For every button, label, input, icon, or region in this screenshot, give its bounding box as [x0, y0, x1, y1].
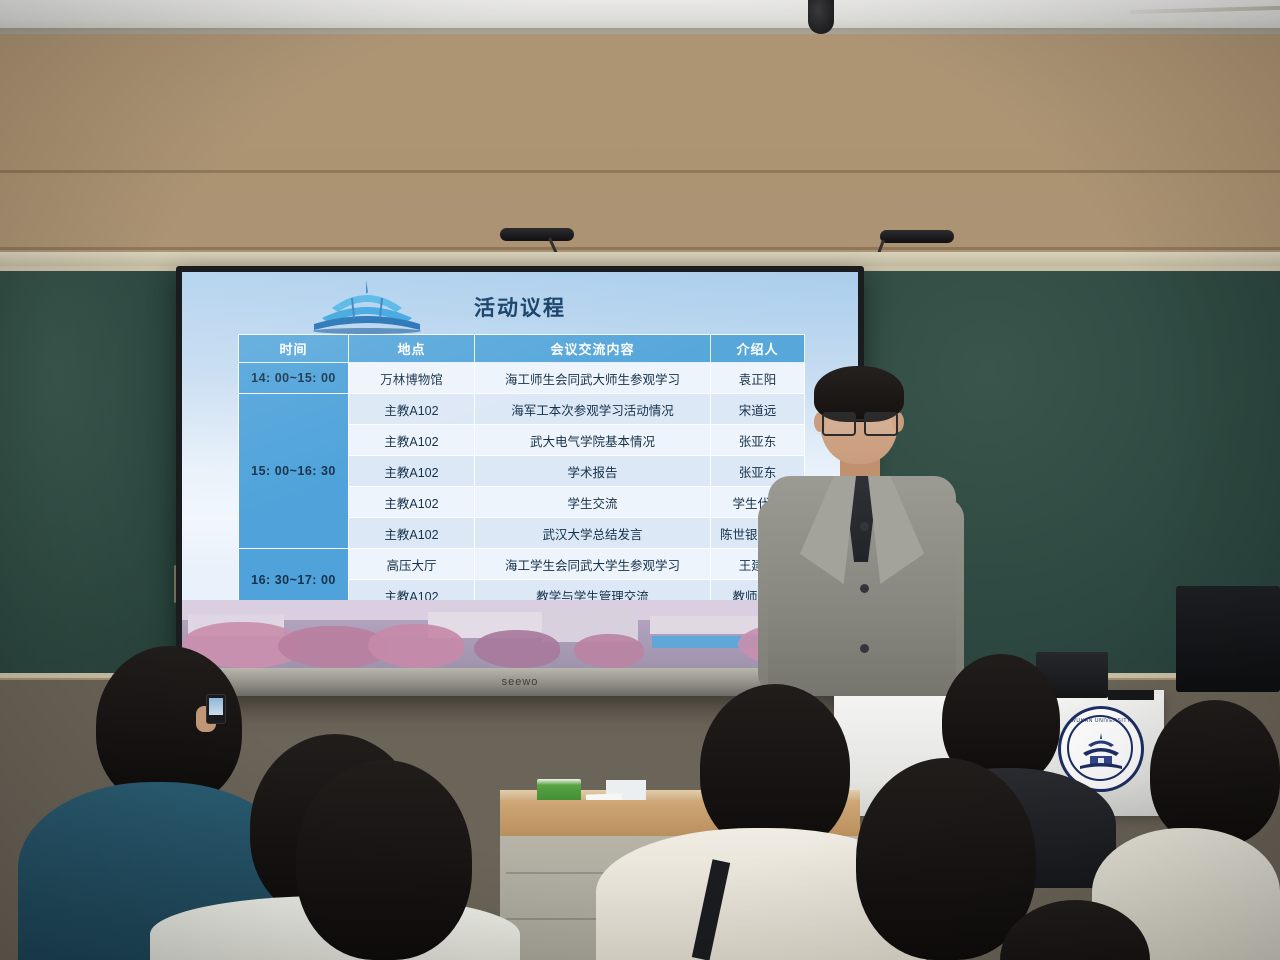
blackboard-lamp-right [880, 230, 954, 243]
table-header-cell-1: 地点 [349, 335, 475, 363]
classroom-photo: 活动议程 时间地点会议交流内容介绍人 14: 00~15: 00万林博物馆海工师… [0, 0, 1280, 960]
smartphone[interactable] [206, 694, 226, 724]
wall-seam [0, 247, 1280, 250]
seal-text: WUHAN UNIVERSITY [1071, 718, 1131, 724]
cell-content: 海工学生会同武大学生参观学习 [475, 549, 711, 580]
table-row: 16: 30~17: 00高压大厅海工学生会同武大学生参观学习王建平 [239, 549, 805, 580]
display-brand-label: seewo [502, 676, 539, 688]
presentation-slide: 活动议程 时间地点会议交流内容介绍人 14: 00~15: 00万林博物馆海工师… [182, 272, 858, 668]
glasses-lens-right [864, 412, 898, 436]
table-header-cell-3: 介绍人 [711, 335, 805, 363]
jacket-button [860, 522, 869, 531]
cell-presenter: 张亚东 [711, 425, 805, 456]
cell-place: 主教A102 [349, 518, 475, 549]
monitor-stand [1108, 690, 1154, 700]
cell-time: 14: 00~15: 00 [239, 363, 349, 394]
cell-content: 武大电气学院基本情况 [475, 425, 711, 456]
table-header-row: 时间地点会议交流内容介绍人 [239, 335, 805, 363]
slide-title: 活动议程 [182, 292, 858, 322]
cell-presenter: 宋道远 [711, 394, 805, 425]
blackboard-lamp-left [500, 228, 574, 241]
table-header-cell-2: 会议交流内容 [475, 335, 711, 363]
cell-content: 学生交流 [475, 487, 711, 518]
glasses-lens-left [822, 412, 856, 436]
seal-pagoda-icon [1078, 731, 1124, 771]
audience-head [1150, 700, 1280, 846]
wall-seam [0, 170, 1280, 173]
cell-content: 武汉大学总结发言 [475, 518, 711, 549]
phone-screen [209, 698, 223, 715]
cell-content: 海工师生会同武大师生参观学习 [475, 363, 711, 394]
display-screen[interactable]: 活动议程 时间地点会议交流内容介绍人 14: 00~15: 00万林博物馆海工师… [182, 272, 858, 668]
cell-place: 主教A102 [349, 456, 475, 487]
cell-content: 学术报告 [475, 456, 711, 487]
campus-photo-strip [182, 600, 858, 668]
cell-place: 万林博物馆 [349, 363, 475, 394]
jacket-button [860, 584, 869, 593]
jacket-button [860, 644, 869, 653]
blackboard-left [0, 266, 184, 678]
monitor-right [1176, 586, 1280, 692]
glasses-bridge [852, 419, 864, 421]
table-header-cell-0: 时间 [239, 335, 349, 363]
ceiling-speaker-icon [808, 0, 834, 34]
agenda-table: 时间地点会议交流内容介绍人 14: 00~15: 00万林博物馆海工师生会同武大… [238, 334, 805, 611]
audience-head [700, 684, 850, 852]
cell-place: 主教A102 [349, 394, 475, 425]
cell-place: 主教A102 [349, 425, 475, 456]
cell-place: 高压大厅 [349, 549, 475, 580]
table-row: 14: 00~15: 00万林博物馆海工师生会同武大师生参观学习袁正阳 [239, 363, 805, 394]
table-row: 15: 00~16: 30主教A102海军工本次参观学习活动情况宋道远 [239, 394, 805, 425]
audience-head [296, 760, 472, 960]
cell-content: 海军工本次参观学习活动情况 [475, 394, 711, 425]
cell-presenter: 袁正阳 [711, 363, 805, 394]
cell-place: 主教A102 [349, 487, 475, 518]
cell-time: 15: 00~16: 30 [239, 394, 349, 549]
